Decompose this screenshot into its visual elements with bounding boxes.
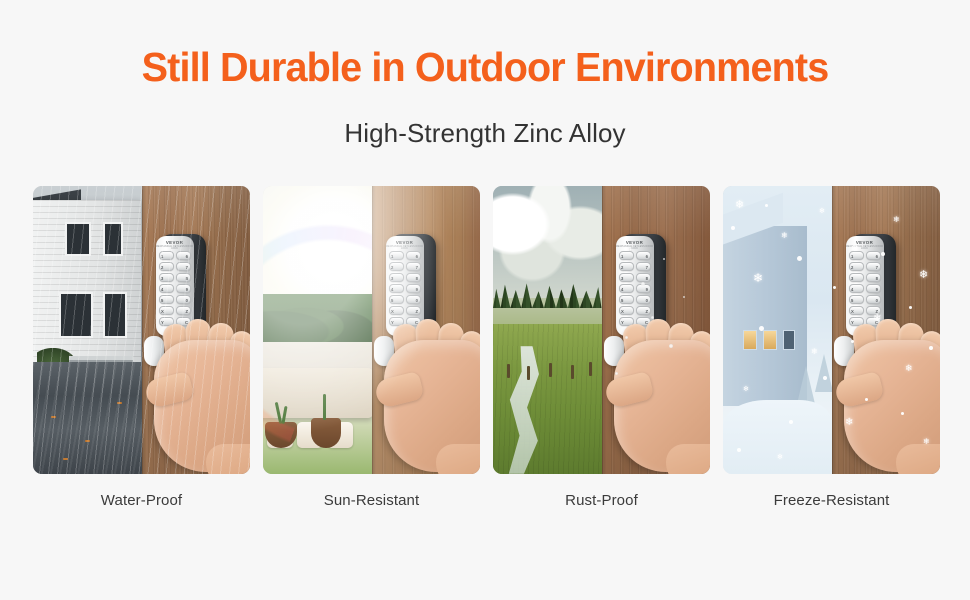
keypad-button[interactable]: 1 — [159, 251, 174, 260]
fallen-leaf — [85, 440, 90, 442]
fallen-leaf — [51, 416, 56, 418]
scene-green-meadow — [493, 186, 602, 474]
hand-operating-lock — [370, 318, 481, 474]
brand-tagline: MECHANICAL KEYLESS DOOR LOCK — [156, 246, 194, 250]
keypad-button[interactable]: 0 — [176, 295, 191, 304]
keypad-button[interactable]: 7 — [636, 262, 651, 271]
wrist — [206, 444, 251, 474]
keypad-button[interactable]: X — [159, 306, 174, 315]
fallen-leaf — [63, 458, 68, 460]
keypad-button[interactable]: 5 — [849, 295, 864, 304]
keypad-button[interactable]: 6 — [406, 251, 421, 260]
fence-post — [571, 365, 574, 379]
caption-freeze-resistant: Freeze-Resistant — [723, 492, 940, 509]
feature-panel-water-proof[interactable]: VEVOR MECHANICAL KEYLESS DOOR LOCK 1 6 2… — [33, 186, 250, 474]
keypad-button[interactable]: 7 — [406, 262, 421, 271]
keypad-button[interactable]: 3 — [619, 273, 634, 282]
keypad-button[interactable]: 0 — [866, 295, 881, 304]
keypad-button[interactable]: 9 — [866, 284, 881, 293]
keypad-lock-assembly[interactable]: VEVOR MECHANICAL KEYLESS DOOR LOCK 1 6 2… — [142, 186, 251, 474]
keypad-button[interactable]: 6 — [176, 251, 191, 260]
keypad-button[interactable]: 2 — [849, 262, 864, 271]
keypad-button[interactable]: 6 — [866, 251, 881, 260]
hand-operating-lock — [140, 318, 251, 474]
keypad-button[interactable]: X — [849, 306, 864, 315]
keypad-button[interactable]: 5 — [619, 295, 634, 304]
house-window — [65, 222, 91, 256]
cloudy-sky — [493, 186, 602, 298]
fallen-leaf — [117, 402, 122, 404]
winter-cabin — [723, 226, 807, 406]
keypad-button[interactable]: 8 — [176, 273, 191, 282]
brand-logo: VEVOR — [386, 240, 424, 245]
feature-panel-sun-resistant[interactable]: VEVOR MECHANICAL KEYLESS DOOR LOCK 1 6 2… — [263, 186, 480, 474]
keypad-button[interactable]: 9 — [176, 284, 191, 293]
white-house — [33, 200, 141, 370]
keypad-button[interactable]: 3 — [389, 273, 404, 282]
brand-tagline: MECHANICAL KEYLESS DOOR LOCK — [616, 246, 654, 250]
house-window — [59, 292, 93, 338]
keypad-button[interactable]: X — [619, 306, 634, 315]
keypad-lock-assembly[interactable]: VEVOR MECHANICAL KEYLESS DOOR LOCK 1 6 2… — [602, 186, 711, 474]
caption-water-proof: Water-Proof — [33, 492, 250, 509]
keypad-button[interactable]: 0 — [406, 295, 421, 304]
fence-post — [549, 363, 552, 377]
scene-sunny-patio — [263, 186, 372, 474]
brand-tagline: MECHANICAL KEYLESS DOOR LOCK — [846, 246, 884, 250]
keypad-button[interactable]: 7 — [176, 262, 191, 271]
rainbow-lens-flare — [263, 212, 372, 462]
keypad-button[interactable]: X — [389, 306, 404, 315]
hand-operating-lock — [600, 318, 711, 474]
wrist — [436, 444, 481, 474]
fence-post — [507, 364, 510, 378]
keypad-button[interactable]: 8 — [636, 273, 651, 282]
keypad-button[interactable]: 5 — [389, 295, 404, 304]
brand-logo: VEVOR — [616, 240, 654, 245]
keypad-button[interactable]: 2 — [159, 262, 174, 271]
page-title: Still Durable in Outdoor Environments — [17, 45, 953, 89]
keypad-lock-assembly[interactable]: VEVOR MECHANICAL KEYLESS DOOR LOCK 1 6 2… — [372, 186, 481, 474]
keypad-button[interactable]: 9 — [636, 284, 651, 293]
keypad-button[interactable]: 0 — [636, 295, 651, 304]
cabin-window — [783, 330, 795, 350]
wet-stone-patio — [33, 362, 142, 474]
caption-rust-proof: Rust-Proof — [493, 492, 710, 509]
keypad-button[interactable]: 4 — [389, 284, 404, 293]
keypad-button[interactable]: 3 — [159, 273, 174, 282]
keypad-button[interactable]: 4 — [849, 284, 864, 293]
scene-snowy-winter — [723, 186, 832, 474]
keypad-button[interactable]: 7 — [866, 262, 881, 271]
brand-logo: VEVOR — [846, 240, 884, 245]
keypad[interactable]: 1 6 2 7 3 8 4 9 5 0 X Z Y C — [849, 251, 881, 326]
keypad-button[interactable]: Z — [176, 306, 191, 315]
house-window — [103, 292, 127, 338]
brand-tagline: MECHANICAL KEYLESS DOOR LOCK — [386, 246, 424, 250]
fence-post — [527, 366, 530, 380]
keypad[interactable]: 1 6 2 7 3 8 4 9 5 0 X Z Y C — [389, 251, 421, 326]
keypad-lock-assembly[interactable]: VEVOR MECHANICAL KEYLESS DOOR LOCK 1 6 2… — [832, 186, 941, 474]
keypad[interactable]: 1 6 2 7 3 8 4 9 5 0 X Z Y C — [159, 251, 191, 326]
keypad-button[interactable]: 2 — [619, 262, 634, 271]
keypad-button[interactable]: 1 — [619, 251, 634, 260]
snow-bank — [723, 400, 832, 474]
wrist — [666, 444, 711, 474]
keypad[interactable]: 1 6 2 7 3 8 4 9 5 0 X Z Y C — [619, 251, 651, 326]
marketing-banner: Still Durable in Outdoor Environments Hi… — [0, 0, 970, 600]
keypad-button[interactable]: 3 — [849, 273, 864, 282]
keypad-button[interactable]: 5 — [159, 295, 174, 304]
grass-field — [493, 324, 602, 474]
keypad-button[interactable]: 1 — [389, 251, 404, 260]
wrist — [896, 444, 941, 474]
hand-operating-lock — [830, 318, 941, 474]
keypad-button[interactable]: 4 — [619, 284, 634, 293]
keypad-button[interactable]: 4 — [159, 284, 174, 293]
keypad-button[interactable]: Z — [636, 306, 651, 315]
keypad-button[interactable]: 9 — [406, 284, 421, 293]
keypad-button[interactable]: Z — [866, 306, 881, 315]
keypad-button[interactable]: 8 — [866, 273, 881, 282]
caption-row: Water-Proof Sun-Resistant Rust-Proof Fre… — [33, 492, 937, 509]
scene-rain-white-house — [33, 186, 142, 474]
fence-post — [589, 362, 592, 376]
feature-panel-rust-proof[interactable]: VEVOR MECHANICAL KEYLESS DOOR LOCK 1 6 2… — [493, 186, 710, 474]
cabin-window — [743, 330, 757, 350]
keypad-button[interactable]: 6 — [636, 251, 651, 260]
keypad-button[interactable]: Z — [406, 306, 421, 315]
feature-panel-strip: VEVOR MECHANICAL KEYLESS DOOR LOCK 1 6 2… — [33, 186, 937, 474]
keypad-button[interactable]: 8 — [406, 273, 421, 282]
cabin-window — [763, 330, 777, 350]
page-subtitle: High-Strength Zinc Alloy — [0, 116, 970, 150]
keypad-button[interactable]: 1 — [849, 251, 864, 260]
caption-sun-resistant: Sun-Resistant — [263, 492, 480, 509]
brand-logo: VEVOR — [156, 240, 194, 245]
snow-covered-tree — [797, 366, 815, 404]
feature-panel-freeze-resistant[interactable]: VEVOR MECHANICAL KEYLESS DOOR LOCK 1 6 2… — [723, 186, 940, 474]
keypad-button[interactable]: 2 — [389, 262, 404, 271]
house-window — [103, 222, 123, 256]
